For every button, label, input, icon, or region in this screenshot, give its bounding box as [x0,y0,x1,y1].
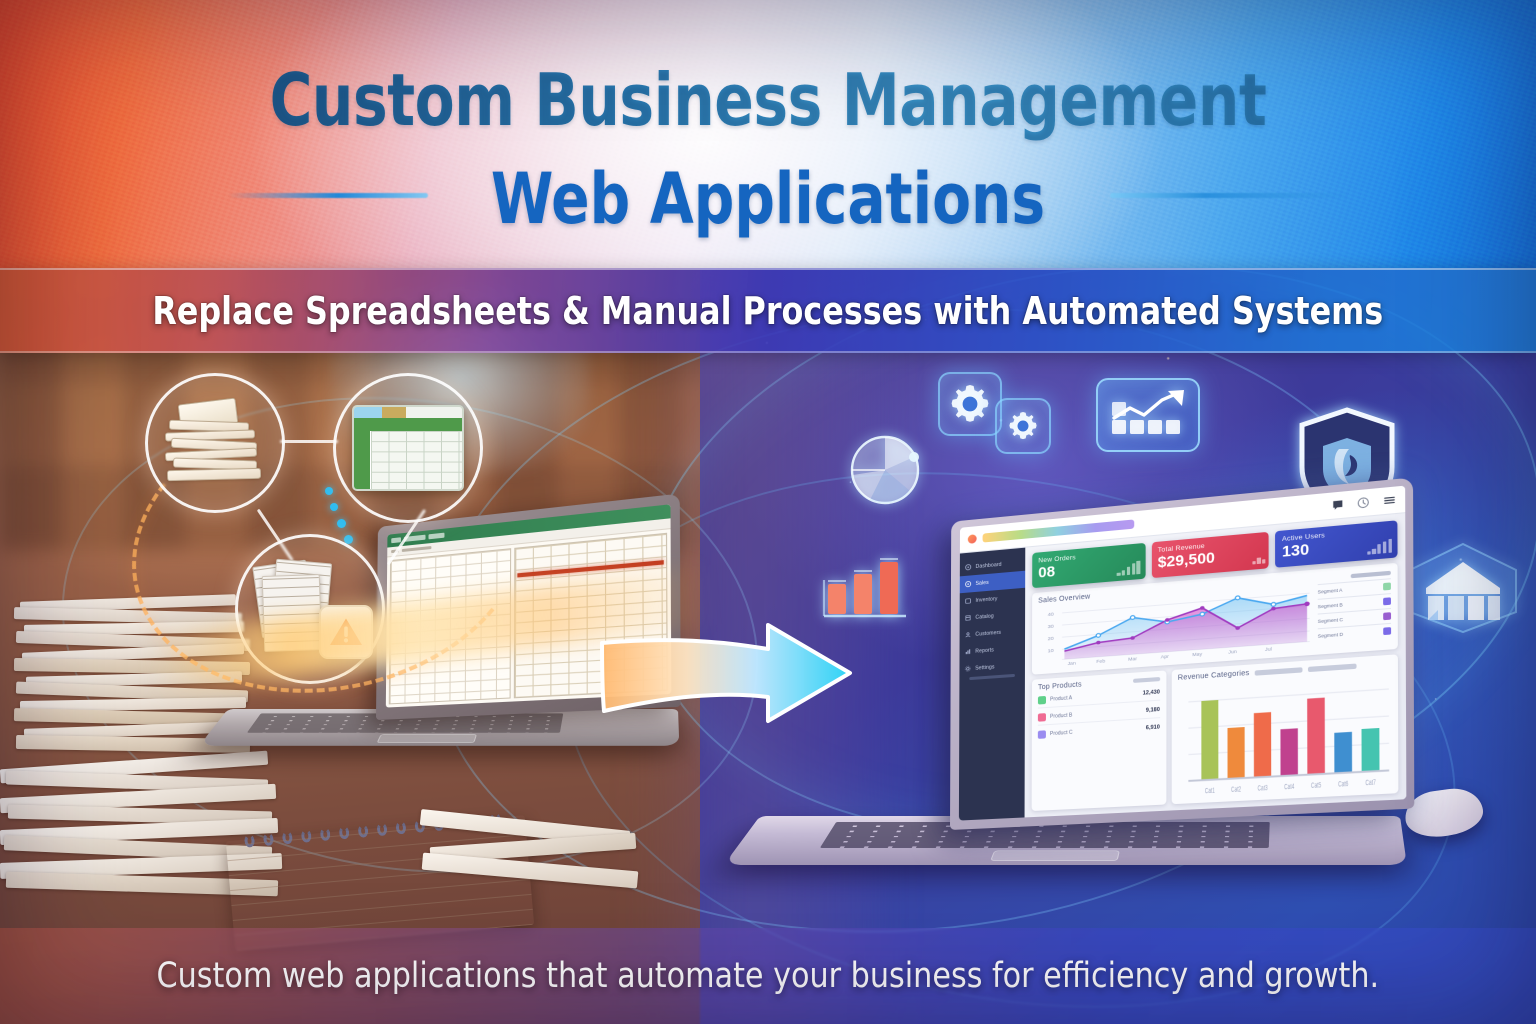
dashboard-screen: Dashboard Sales Inventory Catalog [959,486,1406,821]
chat-icon[interactable] [1332,499,1344,512]
sales-overview-chart-zone: Sales Overview [1038,575,1312,669]
laptop-right-lid: Dashboard Sales Inventory Catalog [950,477,1414,830]
circle-connector-top [280,440,338,443]
legend-chip [1383,627,1391,635]
product-value: 6,910 [1146,725,1160,732]
kpi-sparkline [1252,550,1266,565]
kpi-card-new-orders[interactable]: New Orders 08 [1032,543,1145,588]
footer-caption-text: Custom web applications that automate yo… [157,956,1380,996]
svg-text:Jun: Jun [1228,649,1237,654]
laptop-right-keyboard [820,822,1270,848]
svg-text:Cat5: Cat5 [1311,781,1322,791]
product-name: Product C [1050,726,1142,738]
revenue-categories-chart: Cat1 Cat2 Cat3 Cat4 Cat5 Cat6 Cat7 [1178,670,1392,798]
product-name: Product A [1050,691,1138,703]
product-value: 9,180 [1146,707,1160,714]
svg-text:Mar: Mar [1128,656,1137,661]
laptop-right-trackpad [990,850,1120,860]
app-logo-icon [968,534,977,544]
dashboard-main: New Orders 08 Total Revenue $29,500 [1025,513,1407,817]
gear-primary-icon [938,372,1002,436]
svg-text:Cat7: Cat7 [1365,778,1376,788]
cloud-data-icon [1404,540,1522,636]
sidebar-item-label: Sales [976,579,989,586]
revenue-filter-bar[interactable] [1255,667,1303,675]
catalog-icon [965,614,972,622]
svg-text:Feb: Feb [1096,658,1105,663]
top-products-title: Top Products [1038,681,1082,691]
hamburger-menu-icon[interactable] [1383,494,1396,507]
page-title-line-1: Custom Business Management [77,58,1459,142]
reports-icon [964,648,971,655]
top-products-action-bar[interactable] [1133,677,1160,683]
svg-text:Cat3: Cat3 [1257,783,1268,793]
svg-text:20: 20 [1048,636,1054,642]
subtitle-text: Replace Spreadsheets & Manual Processes … [153,289,1384,333]
svg-text:Apr: Apr [1161,654,1170,659]
warning-triangle-icon [319,605,373,659]
growth-chart-icon [1096,378,1200,452]
spreadsheet-glyph-header-row [354,418,462,431]
svg-text:10: 10 [1048,648,1054,654]
legend-chip [1383,612,1391,620]
page-title-line-2: Web Applications [77,158,1459,240]
svg-text:40: 40 [1048,611,1054,617]
pie-chart-icon [840,425,930,515]
poster-stage: Dashboard Sales Inventory Catalog [0,0,1536,1024]
product-color-swatch [1038,696,1046,705]
subtitle-banner: Replace Spreadsheets & Manual Processes … [0,268,1536,353]
svg-text:Jul: Jul [1265,646,1272,651]
sidebar-item-label: Customers [975,629,1001,637]
svg-text:Cat6: Cat6 [1338,779,1349,789]
kpi-card-total-revenue[interactable]: Total Revenue $29,500 [1152,532,1269,578]
svg-text:Cat1: Cat1 [1205,786,1215,796]
spreadsheet-glyph-body [354,431,462,489]
paper-stack-glyph [165,401,265,485]
top-products-card: Top Products Product A 12,430 [1032,670,1167,811]
sidebar-item-label: Reports [975,647,994,654]
sidebar-item-label: Catalog [975,613,993,620]
dashboard-bottom-row: Top Products Product A 12,430 [1032,654,1399,811]
legend-label: Segment A [1318,584,1380,594]
kpi-card-active-users[interactable]: Active Users 130 [1275,520,1397,567]
header-title-block: Custom Business Management Web Applicati… [0,0,1536,268]
footer-caption-band: Custom web applications that automate yo… [0,928,1536,1024]
svg-text:Jan: Jan [1068,660,1077,665]
modern-dashboard-laptop: Dashboard Sales Inventory Catalog [760,520,1400,900]
settings-icon [964,665,971,672]
product-value: 12,430 [1143,690,1160,697]
spreadsheet-glyph-header-col [354,431,371,489]
legend-label: Segment B [1318,599,1380,609]
flow-dot [337,519,346,528]
spreadsheet-icon [333,373,483,523]
loose-paper-right [420,820,650,910]
legend-row[interactable]: Segment D [1318,623,1391,640]
document-page [262,574,323,652]
spreadsheet-glyph [352,405,464,491]
dashboard-sidebar: Dashboard Sales Inventory Catalog [959,548,1025,821]
error-documents-icon [235,534,385,684]
paper-stack-icon [145,373,285,513]
dashboard-body: Dashboard Sales Inventory Catalog [959,513,1406,820]
product-color-swatch [1038,731,1046,740]
sales-icon [965,580,972,588]
product-name: Product B [1050,708,1142,720]
kpi-sparkline [1117,560,1140,575]
svg-text:May: May [1192,651,1203,657]
gear-secondary-icon [995,398,1051,454]
legend-header-bar [1351,570,1391,578]
sidebar-item-label: Settings [975,664,994,671]
svg-text:Cat4: Cat4 [1284,782,1295,792]
svg-text:Cat2: Cat2 [1231,785,1241,795]
inventory-icon [965,597,972,605]
legend-row[interactable]: Segment C [1318,608,1391,625]
spreadsheet-error-highlight [517,560,663,577]
legend-chip [1383,582,1391,590]
legend-label: Segment D [1318,629,1380,639]
dashboard-icon [965,563,972,571]
error-documents-glyph [251,561,369,657]
flow-dot [325,487,333,495]
revenue-range-bar[interactable] [1308,663,1357,672]
legend-chip [1383,597,1391,605]
svg-text:30: 30 [1048,624,1054,630]
customers-icon [964,631,971,639]
revenue-categories-card: Revenue Categories [1171,654,1398,804]
laptop-left-trackpad [377,734,478,743]
sales-overview-legend: Segment A Segment B Segment C [1318,568,1391,649]
spreadsheet-glyph-titlebar [354,407,462,418]
product-color-swatch [1038,713,1046,722]
spreadsheet-glyph-cells [371,431,462,489]
sidebar-item-label: Dashboard [976,561,1002,569]
clock-icon[interactable] [1357,496,1369,509]
flow-dot [330,503,338,511]
sidebar-item-label: Inventory [975,596,997,604]
legend-label: Segment C [1318,614,1380,624]
kpi-sparkline [1367,539,1392,555]
